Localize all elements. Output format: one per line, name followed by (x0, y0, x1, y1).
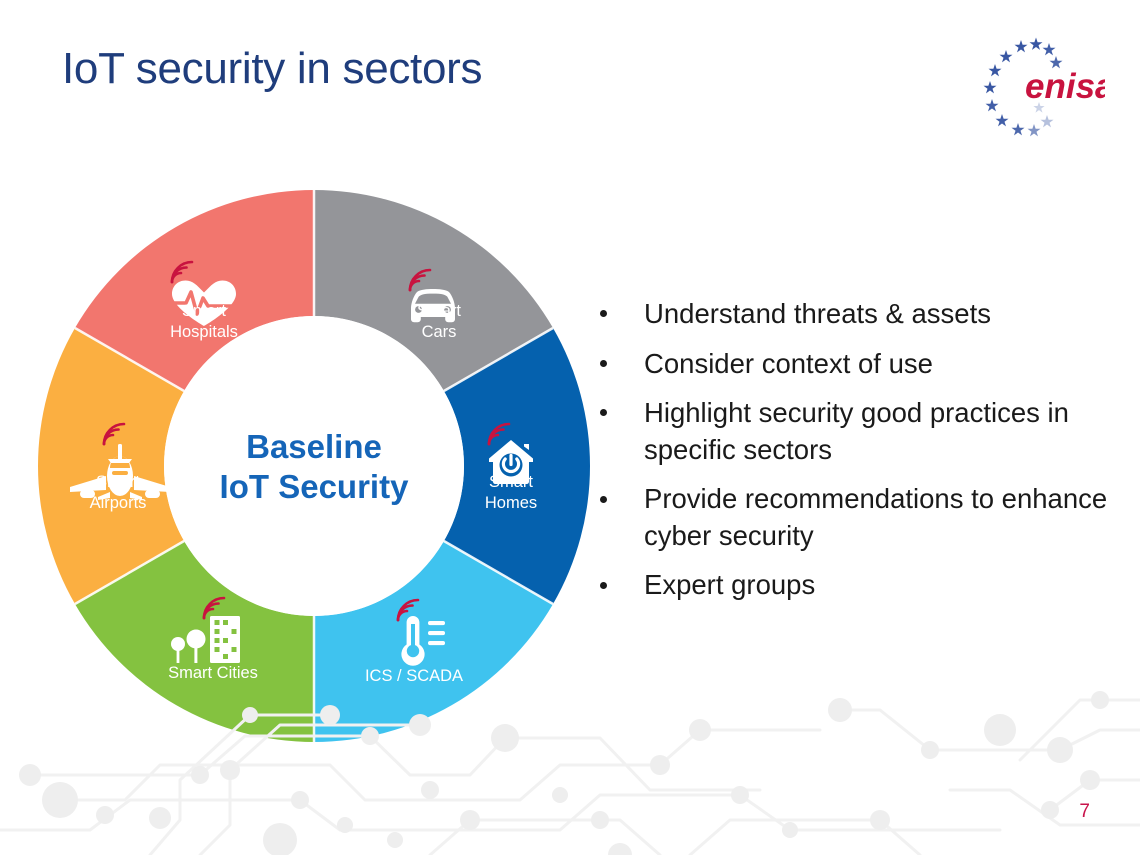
list-item-text: Consider context of use (644, 348, 933, 379)
bullet-dot-icon (600, 409, 607, 416)
bullet-dot-icon (600, 582, 607, 589)
key-points-list: Understand threats & assets Consider con… (592, 296, 1112, 617)
wheel-label-ics-scada-line1: ICS / SCADA (365, 667, 463, 685)
list-item: Consider context of use (592, 346, 1112, 383)
sector-wheel: Smart Cars Smart Homes (38, 190, 590, 742)
list-item-text: Understand threats & assets (644, 298, 991, 329)
slide-canvas: IoT security in sectors enisa (0, 0, 1140, 855)
page-number: 7 (1079, 801, 1090, 823)
list-item: Provide recommendations to enhance cyber… (592, 481, 1112, 554)
wheel-center-line1: Baseline (246, 428, 382, 465)
bullet-dot-icon (600, 360, 607, 367)
wheel-label-smart-hospitals-line1: Smart (182, 302, 226, 320)
wheel-label-smart-cars-line2: Cars (422, 323, 457, 341)
list-item: Expert groups (592, 567, 1112, 604)
wheel-center-hub (164, 316, 464, 616)
wheel-label-smart-hospitals-line2: Hospitals (170, 323, 238, 341)
list-item: Highlight security good practices in spe… (592, 395, 1112, 468)
bullet-dot-icon (600, 496, 607, 503)
wheel-label-smart-homes-line1: Smart (489, 473, 533, 491)
enisa-logo: enisa (975, 36, 1105, 141)
wheel-label-smart-cars-line1: Smart (417, 302, 461, 320)
wheel-label-smart-homes-line2: Homes (485, 494, 537, 512)
wheel-label-smart-airports-line1: Smart (96, 473, 140, 491)
wheel-label-smart-cities-line1: Smart Cities (168, 664, 258, 682)
enisa-wordmark: enisa (1025, 67, 1105, 106)
list-item: Understand threats & assets (592, 296, 1112, 333)
page-title: IoT security in sectors (62, 44, 482, 94)
wheel-center-line2: IoT Security (220, 468, 410, 505)
bullet-dot-icon (600, 310, 607, 317)
list-item-text: Provide recommendations to enhance cyber… (644, 483, 1107, 551)
list-item-text: Expert groups (644, 569, 815, 600)
list-item-text: Highlight security good practices in spe… (644, 397, 1069, 465)
wheel-label-smart-airports-line2: Airports (90, 494, 147, 512)
